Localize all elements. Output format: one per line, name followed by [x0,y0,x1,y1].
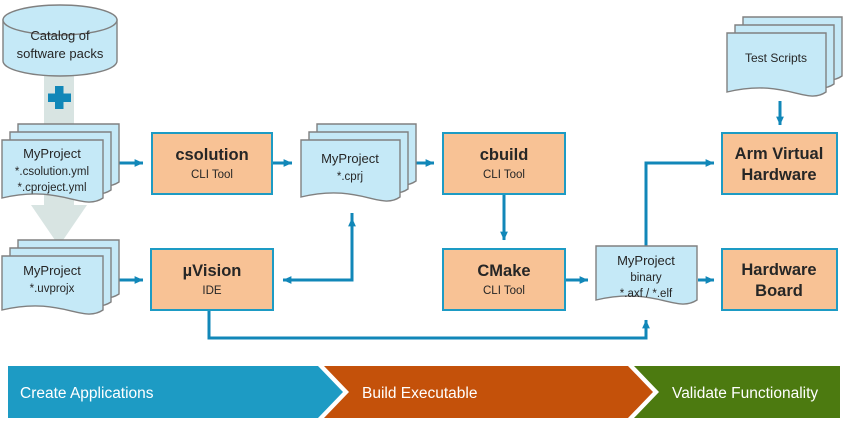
tool-csolution-subtitle: CLI Tool [191,169,233,181]
tool-box-cbuild[interactable]: cbuild CLI Tool [443,133,565,194]
doc-csolution-line3: *.cproject.yml [17,182,86,194]
stage-create-applications[interactable]: Create Applications [8,366,343,418]
stage-build-executable[interactable]: Build Executable [324,366,653,418]
tool-box-cmake[interactable]: CMake CLI Tool [443,249,565,310]
connector-binary-to-avh [646,163,714,248]
tool-board-title-line2: Board [755,282,803,300]
tool-board-title-line1: Hardware [741,261,816,279]
doc-stack-cprj-files: MyProject *.cprj [301,124,416,201]
doc-stack-csolution-files: MyProject *.csolution.yml *.cproject.yml [2,124,119,202]
stage-build-executable-label: Build Executable [362,385,477,402]
stage-create-applications-label: Create Applications [20,385,154,402]
doc-binary-line2: binary [630,272,662,284]
tool-uvision-subtitle: IDE [202,285,222,297]
workflow-diagram: Catalog of software packs MyProject *.cs… [0,0,845,436]
tool-box-hardware-board[interactable]: Hardware Board [722,249,837,310]
tool-cbuild-title: cbuild [480,146,529,164]
tool-cmake-subtitle: CLI Tool [483,285,525,297]
tool-avh-title-line1: Arm Virtual [735,145,824,163]
catalog-line1: Catalog of [30,28,90,43]
stage-band: Create Applications Build Executable Val… [8,366,840,418]
stage-validate-functionality-label: Validate Functionality [672,385,818,402]
doc-binary-line3: *.axf / *.elf [620,288,673,300]
doc-uvprojx-line2: *.uvprojx [30,283,75,295]
connector-uvision-to-binary [209,311,646,338]
tool-csolution-title: csolution [175,146,248,164]
catalog-of-software-packs: Catalog of software packs [3,5,117,76]
doc-stack-test-scripts: Test Scripts [727,17,842,96]
tool-cbuild-subtitle: CLI Tool [483,169,525,181]
tool-uvision-title: µVision [183,262,242,280]
tool-box-uvision[interactable]: µVision IDE [151,249,273,310]
doc-uvprojx-line1: MyProject [23,263,81,278]
doc-csolution-line2: *.csolution.yml [15,166,89,178]
connector-cprj-to-uvision [283,213,352,280]
doc-binary-line1: MyProject [617,253,675,268]
doc-cprj-line1: MyProject [321,151,379,166]
tool-cmake-title: CMake [477,262,530,280]
doc-csolution-line1: MyProject [23,146,81,161]
doc-cprj-line2: *.cprj [337,171,363,183]
doc-binary-files: MyProject binary *.axf / *.elf [596,246,697,304]
catalog-line2: software packs [17,46,104,61]
tool-box-csolution[interactable]: csolution CLI Tool [152,133,272,194]
tool-box-arm-virtual-hardware[interactable]: Arm Virtual Hardware [722,133,837,194]
doc-stack-uvprojx-files: MyProject *.uvprojx [2,240,119,314]
stage-validate-functionality[interactable]: Validate Functionality [634,366,840,418]
tool-avh-title-line2: Hardware [741,166,816,184]
doc-test-scripts-line1: Test Scripts [745,51,807,65]
